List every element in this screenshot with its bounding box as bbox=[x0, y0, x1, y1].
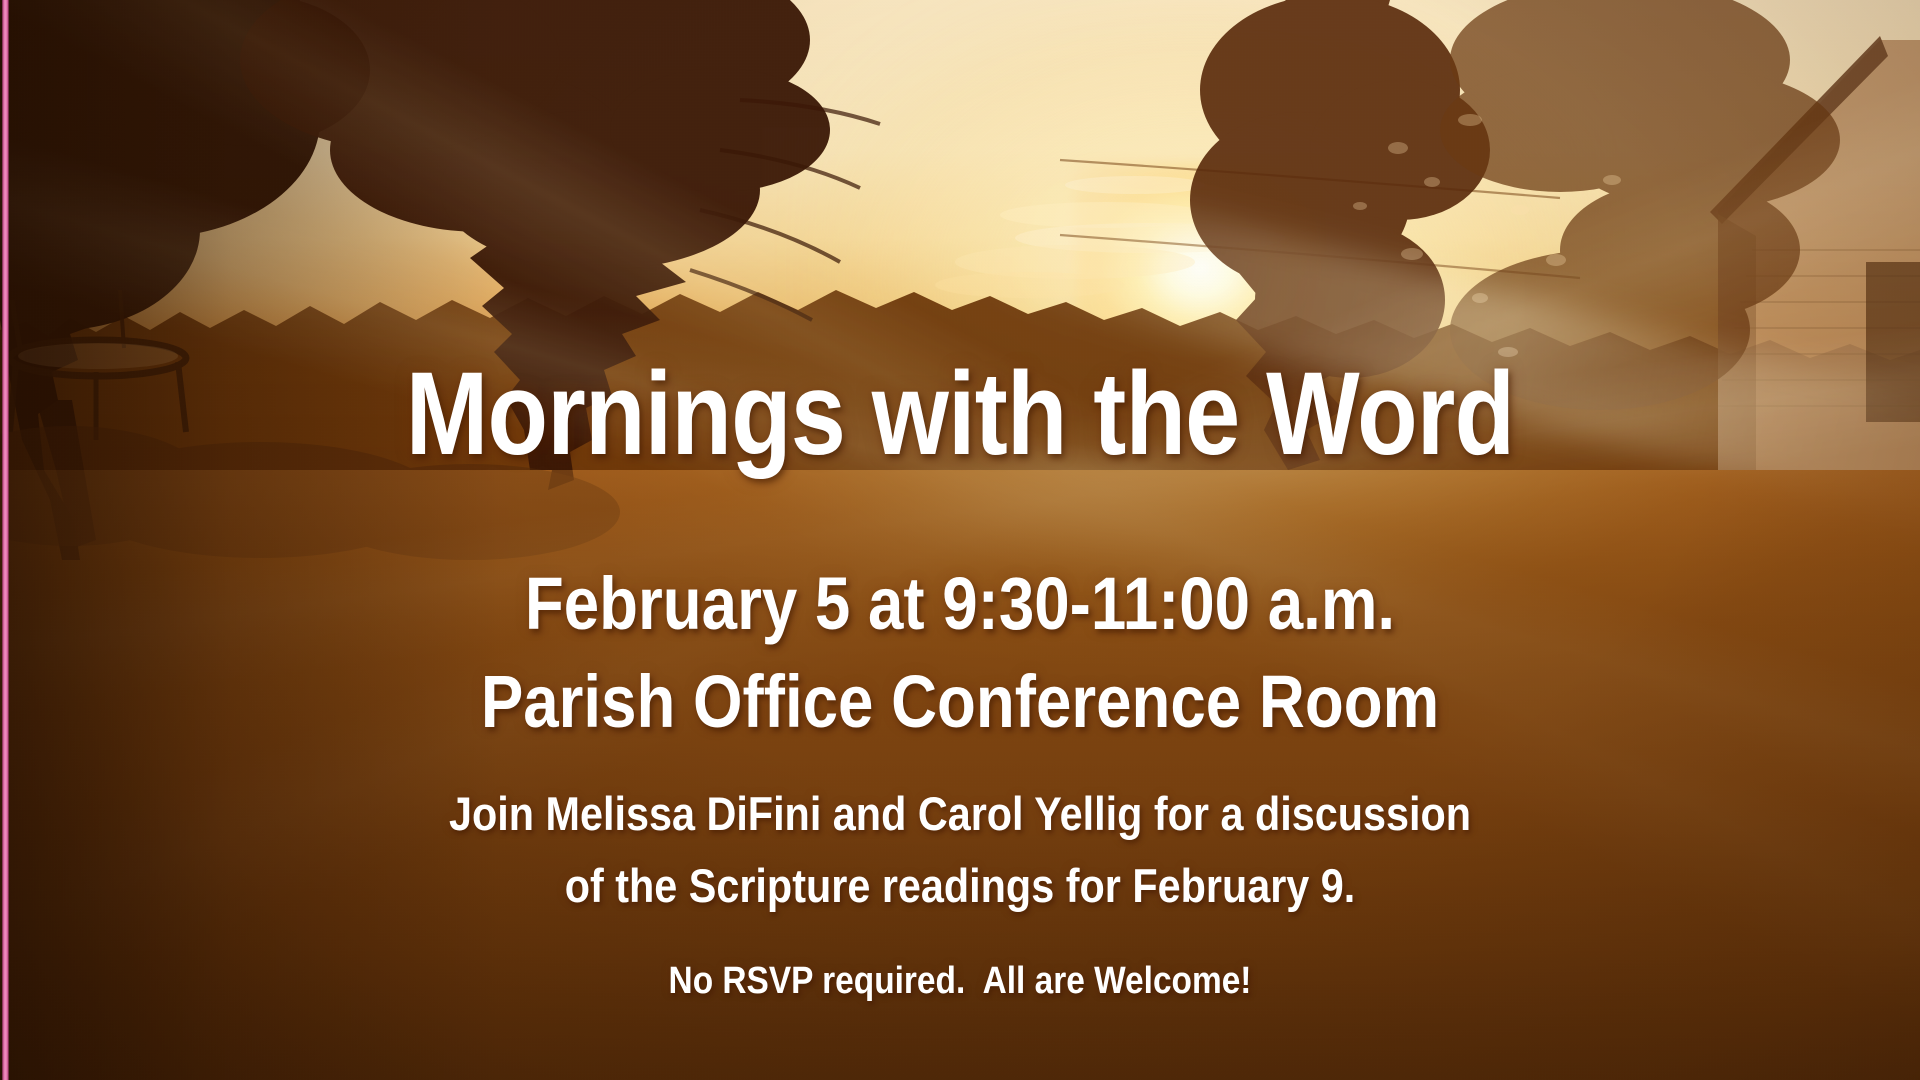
flyer-text-overlay: Mornings with the Word February 5 at 9:3… bbox=[0, 0, 1920, 1080]
flyer-footer-note: No RSVP required. All are Welcome! bbox=[115, 962, 1805, 1000]
event-flyer-poster: Mornings with the Word February 5 at 9:3… bbox=[0, 0, 1920, 1080]
flyer-description-line-2: of the Scripture readings for February 9… bbox=[115, 862, 1805, 909]
flyer-date-time: February 5 at 9:30-11:00 a.m. bbox=[134, 567, 1785, 641]
flyer-description-line-1: Join Melissa DiFini and Carol Yellig for… bbox=[115, 790, 1805, 837]
flyer-location: Parish Office Conference Room bbox=[134, 665, 1785, 739]
flyer-headline: Mornings with the Word bbox=[154, 355, 1767, 473]
